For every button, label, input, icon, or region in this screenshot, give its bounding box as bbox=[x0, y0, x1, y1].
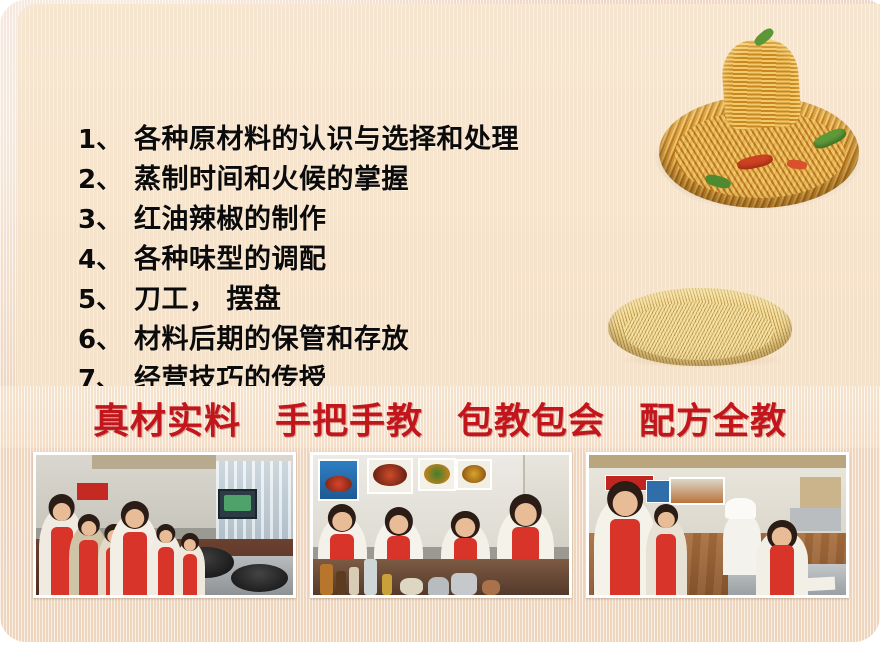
steamer-pot bbox=[428, 577, 449, 595]
slogan-phrase: 真材实料 bbox=[93, 392, 241, 444]
slogan-phrase: 包教包会 bbox=[457, 392, 605, 444]
monitor-icon bbox=[218, 489, 257, 520]
food-poster bbox=[318, 459, 359, 501]
list-item-number: 1、 bbox=[78, 127, 134, 153]
chef-hat-icon bbox=[725, 498, 756, 519]
photo-classroom-demo bbox=[586, 452, 849, 598]
bottle bbox=[349, 567, 359, 595]
food-poster bbox=[418, 458, 457, 492]
curriculum-list: 1、 各种原材料的认识与选择和处理 2、 蒸制时间和火候的掌握 3、 红油辣椒的… bbox=[78, 126, 638, 406]
steamer-pot bbox=[451, 573, 477, 595]
slogan-phrase: 配方全教 bbox=[639, 392, 787, 444]
slogan-phrase: 手把手教 bbox=[275, 392, 423, 444]
ceiling-beam bbox=[92, 455, 215, 469]
noodle-nest-overlay bbox=[624, 302, 774, 360]
student-figure bbox=[175, 542, 206, 595]
jar bbox=[382, 574, 392, 595]
stir-fried-noodles-photo bbox=[645, 28, 873, 218]
list-item: 4、 各种味型的调配 bbox=[78, 246, 638, 273]
list-item: 5、 刀工， 摆盘 bbox=[78, 286, 638, 313]
list-item-label: 各种原材料的认识与选择和处理 bbox=[134, 126, 519, 153]
list-item: 3、 红油辣椒的制作 bbox=[78, 206, 638, 233]
bottle bbox=[364, 559, 377, 595]
wall-sign bbox=[77, 483, 108, 500]
photo-frame bbox=[589, 455, 846, 595]
list-item-number: 2、 bbox=[78, 167, 134, 193]
photo-frame bbox=[36, 455, 293, 595]
list-item: 2、 蒸制时间和火候的掌握 bbox=[78, 166, 638, 193]
list-item-number: 6、 bbox=[78, 327, 134, 353]
list-item-label: 红油辣椒的制作 bbox=[134, 206, 327, 233]
food-poster bbox=[367, 458, 413, 494]
bowl bbox=[482, 580, 500, 595]
bottle bbox=[320, 564, 333, 595]
list-item-number: 3、 bbox=[78, 207, 134, 233]
class-photo-strip bbox=[33, 452, 849, 598]
wall-poster bbox=[669, 477, 725, 505]
slogan-text: 真材实料 手把手教 包教包会 配方全教 bbox=[0, 392, 880, 444]
list-item: 6、 材料后期的保管和存放 bbox=[78, 326, 638, 353]
food-poster bbox=[456, 459, 492, 490]
storage-boxes bbox=[800, 477, 841, 508]
list-item: 1、 各种原材料的认识与选择和处理 bbox=[78, 126, 638, 153]
slide-root: 1、 各种原材料的认识与选择和处理 2、 蒸制时间和火候的掌握 3、 红油辣椒的… bbox=[0, 0, 880, 660]
photo-prep-table-class bbox=[310, 452, 573, 598]
list-item-number: 4、 bbox=[78, 247, 134, 273]
list-item-label: 各种味型的调配 bbox=[134, 246, 327, 273]
photo-wok-cooking-class bbox=[33, 452, 296, 598]
steel-shelf bbox=[790, 508, 841, 530]
dry-noodle-nest-photo bbox=[600, 282, 800, 374]
list-item-label: 材料后期的保管和存放 bbox=[134, 326, 409, 353]
wall-poster bbox=[646, 480, 672, 502]
bottom-white-strip bbox=[0, 642, 880, 660]
list-item-label: 蒸制时间和火候的掌握 bbox=[134, 166, 409, 193]
ceiling-beam bbox=[589, 455, 846, 468]
photo-frame bbox=[313, 455, 570, 595]
student-figure bbox=[756, 531, 807, 595]
student-figure bbox=[646, 517, 687, 595]
list-item-label: 刀工， 摆盘 bbox=[134, 286, 281, 313]
bottle bbox=[336, 571, 346, 595]
noodle-lifted-strands bbox=[720, 37, 802, 130]
bowl bbox=[400, 578, 423, 595]
wok bbox=[231, 564, 287, 592]
list-item-number: 5、 bbox=[78, 287, 134, 313]
